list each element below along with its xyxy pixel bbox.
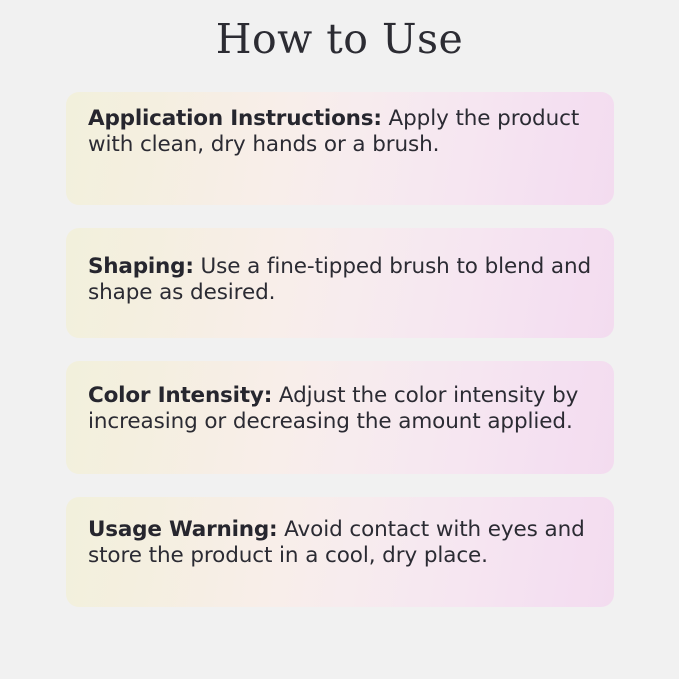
instruction-card: Application Instructions: Apply the prod…: [66, 92, 614, 205]
instruction-card: Color Intensity: Adjust the color intens…: [66, 361, 614, 474]
instruction-text: Application Instructions: Apply the prod…: [88, 106, 592, 157]
instruction-label: Color Intensity:: [88, 383, 272, 408]
instruction-text: Color Intensity: Adjust the color intens…: [88, 383, 592, 434]
instruction-text: Usage Warning: Avoid contact with eyes a…: [88, 517, 592, 568]
instruction-text: Shaping: Use a fine-tipped brush to blen…: [88, 254, 592, 305]
instruction-card: Shaping: Use a fine-tipped brush to blen…: [66, 228, 614, 338]
instruction-label: Application Instructions:: [88, 106, 382, 131]
instruction-label: Usage Warning:: [88, 517, 277, 542]
how-to-use-panel: How to Use Application Instructions: App…: [0, 0, 679, 679]
page-title: How to Use: [0, 18, 679, 61]
instruction-card-list: Application Instructions: Apply the prod…: [66, 92, 614, 607]
instruction-card: Usage Warning: Avoid contact with eyes a…: [66, 497, 614, 607]
instruction-label: Shaping:: [88, 254, 194, 279]
